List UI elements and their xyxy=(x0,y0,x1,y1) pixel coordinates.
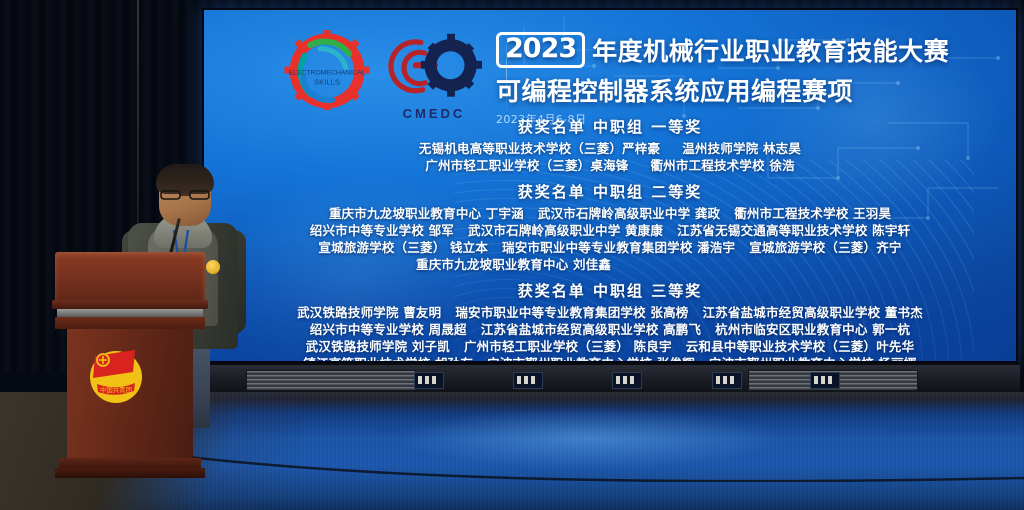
award-heading: 获奖名单 中职组 二等奖 xyxy=(204,181,1016,202)
award-entry: 重庆市九龙坡职业教育中心 丁宇涵 xyxy=(329,205,524,222)
award-entry: 武汉铁路技师学院 曹友明 xyxy=(297,304,441,321)
emblem-text: 中国共青团 xyxy=(100,385,132,394)
award-entry: 温州技师学院 林志昊 xyxy=(682,140,801,157)
award-group-third-prize: 获奖名单 中职组 三等奖 武汉铁路技师学院 曹友明 瑞安市职业中等专业教育集团学… xyxy=(204,280,1016,361)
award-entry: 宁波市鄞州职业教育中心学校 张俊辉 xyxy=(487,355,695,361)
award-entry: 瑞安市职业中等专业教育集团学校 潘浩宇 xyxy=(502,239,735,256)
award-entry: 武汉铁路技师学院 刘子凯 xyxy=(306,338,450,355)
stage-cable xyxy=(180,454,1024,482)
led-screen: ELECTROMECHANICAL SKILLS xyxy=(204,10,1016,361)
speaker-lapel-pin xyxy=(206,260,220,274)
award-group-second-prize: 获奖名单 中职组 二等奖 重庆市九龙坡职业教育中心 丁宇涵 武汉市石牌岭高级职业… xyxy=(204,181,1016,273)
award-entry: 云和县中等职业技术学校（三菱）叶先华 xyxy=(686,338,915,355)
podium: 中国共青团 xyxy=(55,252,205,482)
award-entry: 衢州市工程技术学校 徐浩 xyxy=(650,157,794,174)
award-lists: 获奖名单 中职组 一等奖 无锡机电高等职业技术学校（三菱）严梓豪 温州技师学院 … xyxy=(204,114,1016,361)
rack-connector-panel xyxy=(712,372,742,389)
equipment-rack xyxy=(200,363,1020,395)
title-year: 2023 xyxy=(496,32,585,68)
award-row: 武汉铁路技师学院 刘子凯 广州市轻工职业学校（三菱） 陈良宇 云和县中等职业技术… xyxy=(204,338,1016,355)
award-entry: 瑞安市职业中等专业教育集团学校 张高榜 xyxy=(455,304,688,321)
award-entry: 宁波市鄞州职业教育中心学校 杨丽娜 xyxy=(709,355,917,361)
rack-connector-panel xyxy=(513,372,543,389)
electromechanical-skills-logo-icon: ELECTROMECHANICAL SKILLS xyxy=(284,30,370,110)
award-row: 镇江高等职业技术学校 胡孙存 宁波市鄞州职业教育中心学校 张俊辉 宁波市鄞州职业… xyxy=(204,355,1016,361)
award-entry: 无锡机电高等职业技术学校（三菱）严梓豪 xyxy=(419,140,660,157)
rack-connector-panel xyxy=(612,372,642,389)
award-entry: 江苏省盐城市经贸高级职业学校 高鹏飞 xyxy=(481,321,701,338)
award-entry: 衢州市工程技术学校 王羽昊 xyxy=(734,205,891,222)
award-row: 无锡机电高等职业技术学校（三菱）严梓豪 温州技师学院 林志昊 xyxy=(204,140,1016,157)
award-entry: 武汉市石牌岭高级职业中学 黄康康 xyxy=(468,222,663,239)
award-entry: 重庆市九龙坡职业教育中心 刘佳鑫 xyxy=(416,256,611,273)
award-row: 广州市轻工职业学校（三菱）桌海锋 衢州市工程技术学校 徐浩 xyxy=(204,157,1016,174)
logo-text-electromechanical: ELECTROMECHANICAL xyxy=(289,69,366,76)
award-entry: 广州市轻工职业学校（三菱） 陈良宇 xyxy=(464,338,672,355)
communist-youth-league-emblem-icon: 中国共青团 xyxy=(85,344,147,406)
award-group-first-prize: 获奖名单 中职组 一等奖 无锡机电高等职业技术学校（三菱）严梓豪 温州技师学院 … xyxy=(204,116,1016,174)
award-row: 绍兴市中等专业学校 周晟超 江苏省盐城市经贸高级职业学校 高鹏飞 杭州市临安区职… xyxy=(204,321,1016,338)
award-entry: 镇江高等职业技术学校 胡孙存 xyxy=(303,355,473,361)
award-entry: 绍兴市中等专业学校 邹军 xyxy=(310,222,454,239)
award-heading: 获奖名单 中职组 三等奖 xyxy=(204,280,1016,301)
podium-top xyxy=(55,252,205,304)
podium-base-foot xyxy=(55,468,205,478)
title-line2: 可编程控制器系统应用编程赛项 xyxy=(496,72,1008,108)
stage-scene: ELECTROMECHANICAL SKILLS xyxy=(0,0,1024,510)
title-block: 2023 年度机械行业职业教育技能大赛 可编程控制器系统应用编程赛项 2023年… xyxy=(496,32,1008,127)
rack-connector-panel xyxy=(414,372,444,389)
award-entry: 绍兴市中等专业学校 周晟超 xyxy=(310,321,467,338)
logo-text-skills: SKILLS xyxy=(314,77,340,86)
cmedc-logo-icon xyxy=(386,30,482,104)
award-heading: 获奖名单 中职组 一等奖 xyxy=(204,116,1016,137)
award-entry: 宣城旅游学校（三菱）齐宁 xyxy=(749,239,901,256)
rack-vent xyxy=(246,370,416,391)
podium-lip xyxy=(52,300,208,309)
eyeglasses-icon xyxy=(160,190,210,200)
award-row: 重庆市九龙坡职业教育中心 刘佳鑫 xyxy=(204,256,1016,273)
award-row: 重庆市九龙坡职业教育中心 丁宇涵 武汉市石牌岭高级职业中学 龚政 衢州市工程技术… xyxy=(204,205,1016,222)
award-entry: 杭州市临安区职业教育中心 郭一杭 xyxy=(715,321,910,338)
award-entry: 广州市轻工职业学校（三菱）桌海锋 xyxy=(425,157,628,174)
podium-trim-band xyxy=(57,309,203,317)
award-entry: 武汉市石牌岭高级职业中学 龚政 xyxy=(538,205,720,222)
award-row: 宣城旅游学校（三菱） 钱立本 瑞安市职业中等专业教育集团学校 潘浩宇 宣城旅游学… xyxy=(204,239,1016,256)
award-row: 武汉铁路技师学院 曹友明 瑞安市职业中等专业教育集团学校 张高榜 江苏省盐城市经… xyxy=(204,304,1016,321)
podium-mid xyxy=(55,317,205,329)
award-entry: 江苏省无锡交通高等职业技术学校 陈宇轩 xyxy=(677,222,910,239)
award-entry: 江苏省盐城市经贸高级职业学校 董书杰 xyxy=(702,304,922,321)
award-entry: 宣城旅游学校（三菱） 钱立本 xyxy=(318,239,488,256)
rack-connector-panel xyxy=(810,372,840,389)
award-row: 绍兴市中等专业学校 邹军 武汉市石牌岭高级职业中学 黄康康 江苏省无锡交通高等职… xyxy=(204,222,1016,239)
title-line1: 年度机械行业职业教育技能大赛 xyxy=(592,32,949,68)
